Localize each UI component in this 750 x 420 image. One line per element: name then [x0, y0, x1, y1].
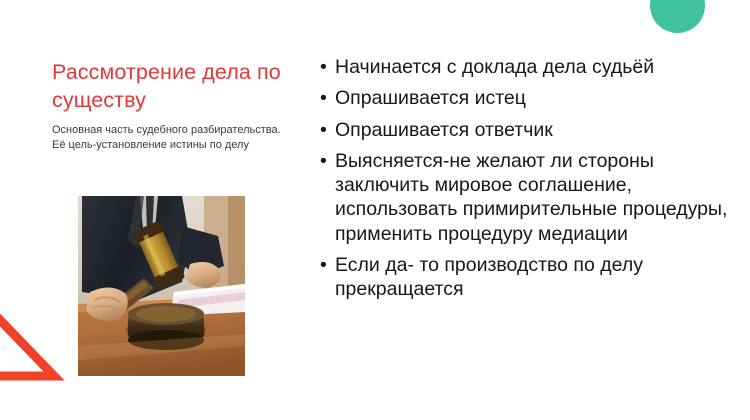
presentation-slide: Рассмотрение дела по существу Основная ч… [0, 0, 750, 420]
list-item: • Выясняется-не желают ли стороны заключ… [318, 149, 738, 246]
bullet-marker: • [320, 118, 327, 142]
red-triangle-icon [0, 262, 58, 384]
slide-subtitle: Основная часть судебного разбирательства… [52, 123, 284, 154]
left-text-column: Рассмотрение дела по существу Основная ч… [52, 58, 284, 154]
list-item-text: Если да- то производство по делу прекращ… [335, 254, 643, 300]
list-item-text: Начинается с доклада дела судьёй [335, 56, 654, 78]
bullet-marker: • [320, 55, 327, 79]
judge-gavel-photo [78, 196, 245, 376]
list-item: • Опрашивается ответчик [318, 118, 738, 142]
bullet-list: • Начинается с доклада дела судьёй • Опр… [318, 55, 738, 301]
teal-circle-icon [650, 0, 705, 33]
list-item-text: Выясняется-не желают ли стороны заключит… [335, 150, 727, 245]
bullet-marker: • [320, 86, 327, 110]
list-item-text: Опрашивается истец [335, 87, 526, 109]
bullet-marker: • [320, 149, 327, 173]
list-item: • Начинается с доклада дела судьёй [318, 55, 738, 79]
bullet-marker: • [320, 253, 327, 277]
list-item: • Опрашивается истец [318, 86, 738, 110]
list-item-text: Опрашивается ответчик [335, 119, 553, 141]
list-item: • Если да- то производство по делу прекр… [318, 253, 738, 302]
page-title: Рассмотрение дела по существу [52, 58, 284, 115]
